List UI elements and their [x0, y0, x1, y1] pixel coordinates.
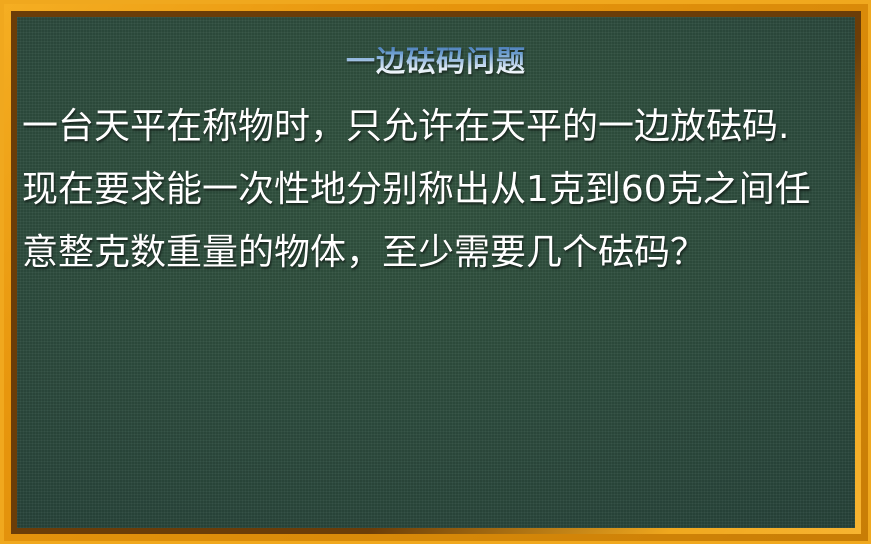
chalkboard-surface: 一边砝码问题 一台天平在称物时，只允许在天平的一边放砝码. 现在要求能一次性地分… — [17, 17, 855, 528]
slide-body-text: 一台天平在称物时，只允许在天平的一边放砝码. 现在要求能一次性地分别称出从1克到… — [22, 95, 847, 284]
presentation-slide: 一边砝码问题 一台天平在称物时，只允许在天平的一边放砝码. 现在要求能一次性地分… — [0, 0, 871, 544]
body-line-3: 意整克数重量的物体，至少需要几个砝码？ — [22, 221, 847, 284]
body-line-2: 现在要求能一次性地分别称出从1克到60克之间任 — [22, 158, 847, 221]
body-line-1: 一台天平在称物时，只允许在天平的一边放砝码. — [22, 95, 847, 158]
slide-title: 一边砝码问题 — [17, 47, 855, 76]
